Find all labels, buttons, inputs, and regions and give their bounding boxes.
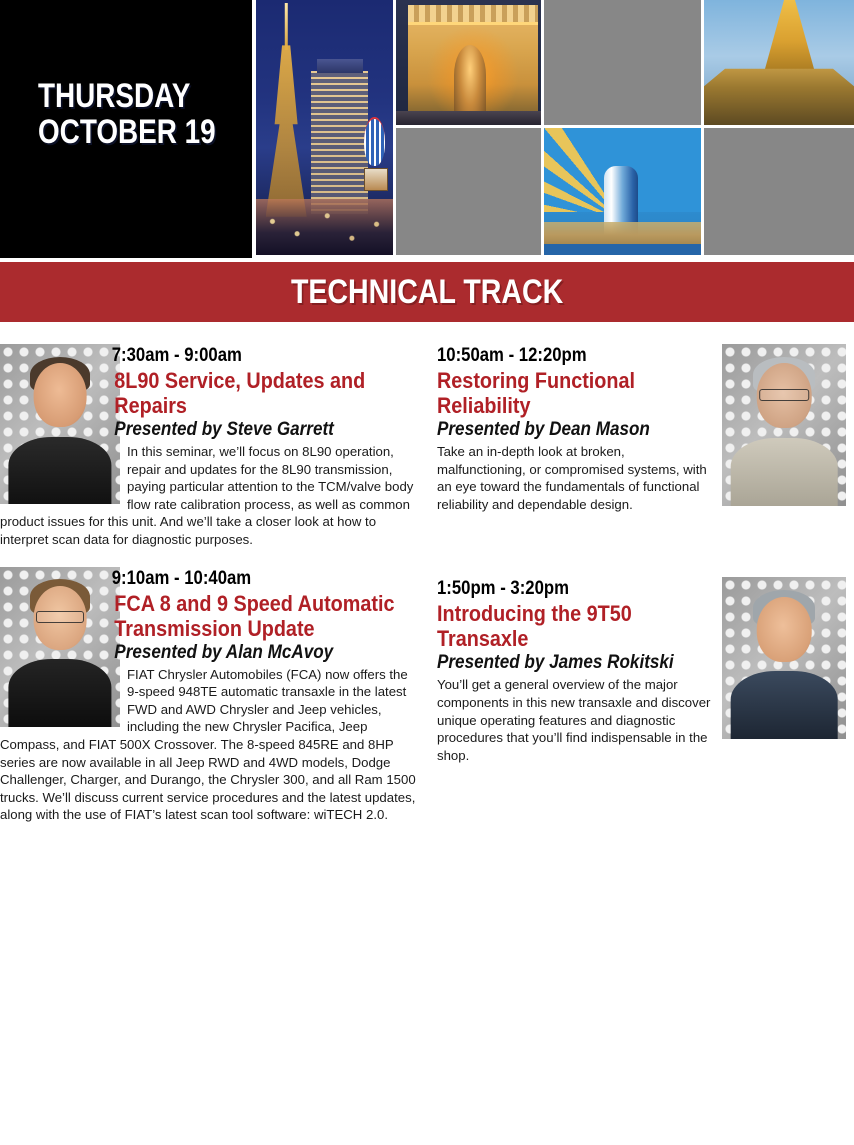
placeholder-gray-2 [396, 128, 544, 258]
session-presenter: Presented by James Rokitski [437, 652, 846, 674]
eiffel-tower-icon [266, 3, 307, 217]
placeholder-gray-3 [704, 128, 854, 258]
arc-cornice [408, 5, 539, 25]
session-time: 1:50pm - 3:20pm [437, 577, 797, 600]
ceiling-floor-band [544, 244, 701, 255]
torso-shape [8, 659, 111, 726]
header-photo-grid [256, 0, 854, 258]
arc-de-triomphe-photo [396, 0, 544, 128]
date-day-label: THURSDAY [38, 78, 214, 114]
technical-track-label: TECHNICAL TRACK [291, 275, 563, 309]
strip-foreground [256, 199, 393, 255]
session-title: Introducing the 9T50 Transaxle [437, 601, 846, 651]
billboard-sign [364, 168, 387, 191]
date-block: THURSDAY OCTOBER 19 [0, 0, 252, 258]
date-month-day-label: OCTOBER 19 [38, 114, 214, 150]
torso-shape [8, 437, 111, 504]
session-card[interactable]: 1:50pm - 3:20pm Introducing the 9T50 Tra… [437, 577, 846, 764]
session-time: 7:30am - 9:00am [0, 344, 369, 367]
session-columns: 7:30am - 9:00am 8L90 Service, Updates an… [0, 322, 854, 842]
session-time: 9:10am - 10:40am [0, 567, 369, 590]
session-time: 10:50am - 12:20pm [437, 344, 797, 367]
hotel-building [311, 71, 369, 214]
page-header: THURSDAY OCTOBER 19 [0, 0, 854, 258]
session-title: FCA 8 and 9 Speed Automatic Transmission… [0, 591, 419, 641]
session-card[interactable]: 9:10am - 10:40am FCA 8 and 9 Speed Autom… [0, 567, 419, 824]
session-presenter: Presented by Alan McAvoy [0, 642, 419, 664]
paris-hotel-night-photo [256, 0, 396, 258]
date-text-group: THURSDAY OCTOBER 19 [38, 78, 253, 150]
right-session-column: 10:50am - 12:20pm Restoring Functional R… [427, 344, 854, 842]
session-card[interactable]: 10:50am - 12:20pm Restoring Functional R… [437, 344, 846, 513]
session-presenter: Presented by Dean Mason [437, 419, 846, 441]
placeholder-gray-1 [544, 0, 704, 128]
eiffel-tower-closeup-photo [704, 0, 854, 128]
torso-shape [731, 438, 838, 506]
session-card[interactable]: 7:30am - 9:00am 8L90 Service, Updates an… [0, 344, 419, 549]
torso-shape [731, 671, 838, 739]
left-session-column: 7:30am - 9:00am 8L90 Service, Updates an… [0, 344, 427, 842]
casino-ceiling-chandelier-photo [544, 128, 704, 258]
session-presenter: Presented by Steve Garrett [0, 419, 419, 441]
hot-air-balloon-icon [364, 117, 385, 165]
technical-track-banner: TECHNICAL TRACK [0, 262, 854, 322]
session-title: Restoring Functional Reliability [437, 368, 846, 418]
session-title: 8L90 Service, Updates and Repairs [0, 368, 419, 418]
arc-street [396, 111, 541, 125]
